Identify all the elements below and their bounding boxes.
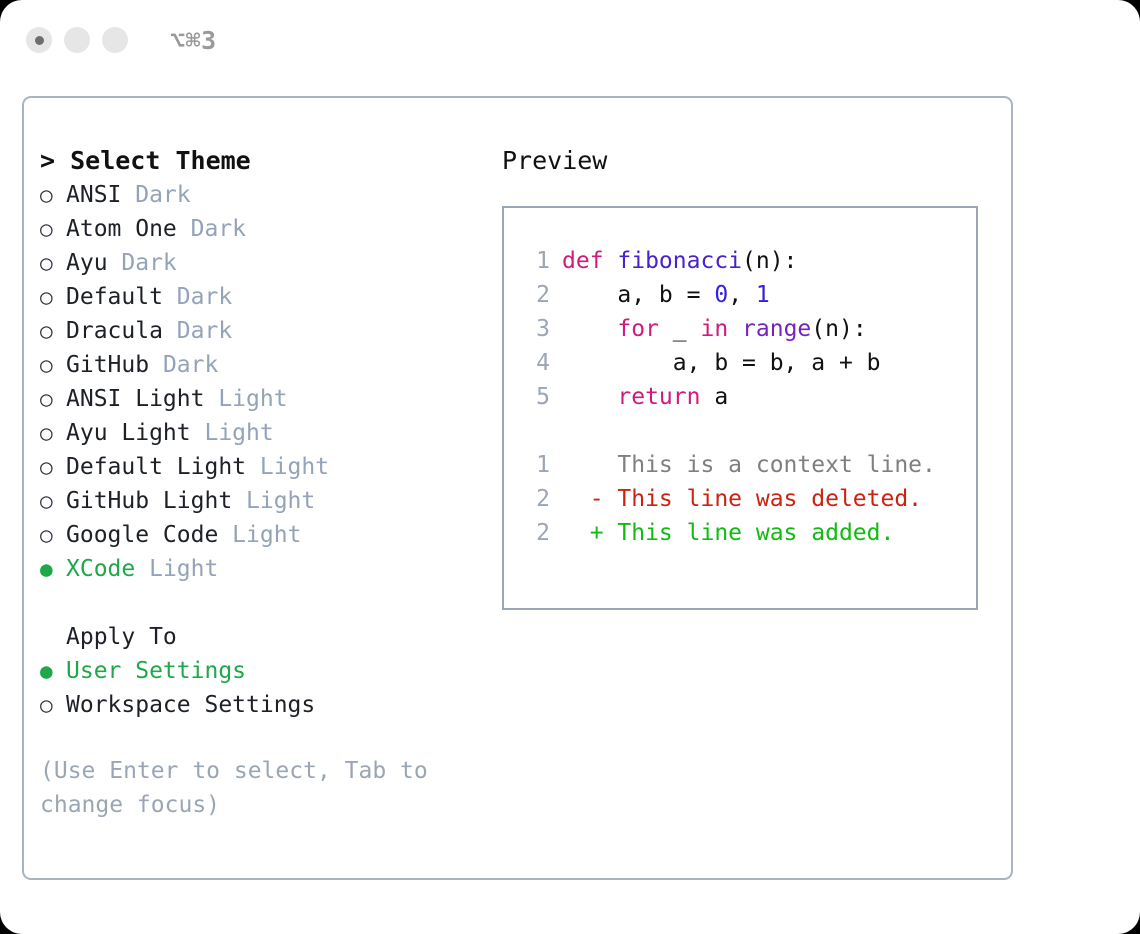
code-token-kw: in: [700, 316, 728, 342]
window-control-maximize[interactable]: [102, 27, 128, 53]
radio-unselected-icon: ○: [40, 212, 66, 246]
diff-sign: +: [562, 516, 604, 550]
code-line-content: a, b = b, a + b: [562, 346, 881, 380]
apply-to-option-name: User Settings: [66, 654, 246, 688]
code-line-number: 3: [522, 312, 550, 346]
window-titlebar: ⌥⌘3: [0, 0, 1140, 80]
radio-unselected-icon: ○: [40, 518, 66, 552]
diff-line: 2 - This line was deleted.: [522, 482, 976, 516]
code-token-kw: return: [617, 384, 700, 410]
theme-option-github[interactable]: ○GitHub Dark: [40, 348, 500, 382]
radio-selected-icon: ●: [40, 654, 66, 688]
radio-selected-icon: ●: [40, 552, 66, 586]
code-token-txt: a, b =: [562, 282, 714, 308]
theme-selector-panel: > Select Theme ○ANSI Dark○Atom One Dark○…: [22, 96, 1013, 880]
window-control-minimize[interactable]: [64, 27, 90, 53]
theme-option-default[interactable]: ○Default Dark: [40, 280, 500, 314]
theme-option-mode: Light: [191, 416, 274, 450]
radio-unselected-icon: ○: [40, 416, 66, 450]
diff-line: 1 This is a context line.: [522, 448, 976, 482]
code-token-num: 0: [714, 282, 728, 308]
code-token-call: range: [742, 316, 811, 342]
radio-unselected-icon: ○: [40, 382, 66, 416]
code-token-txt: [728, 316, 742, 342]
preview-box: 1def fibonacci(n):2 a, b = 0, 13 for _ i…: [502, 206, 978, 610]
apply-to-option-list[interactable]: ●User Settings○Workspace Settings: [40, 654, 500, 722]
theme-option-name: ANSI: [66, 178, 121, 212]
theme-option-name: Atom One: [66, 212, 177, 246]
code-token-txt: a: [700, 384, 728, 410]
terminal-window: ⌥⌘3 > Select Theme ○ANSI Dark○Atom One D…: [0, 0, 1140, 934]
window-control-close[interactable]: [26, 27, 52, 53]
theme-option-ayu[interactable]: ○Ayu Dark: [40, 246, 500, 280]
code-line-content: a, b = 0, 1: [562, 278, 770, 312]
theme-option-name: Google Code: [66, 518, 218, 552]
theme-option-xcode[interactable]: ●XCode Light: [40, 552, 500, 586]
theme-option-name: Ayu Light: [66, 416, 191, 450]
code-token-txt: [562, 316, 617, 342]
radio-unselected-icon: ○: [40, 484, 66, 518]
code-line-content: def fibonacci(n):: [562, 244, 797, 278]
code-line-number: 1: [522, 244, 550, 278]
keyboard-shortcut-label: ⌥⌘3: [170, 26, 217, 55]
code-line-number: 5: [522, 380, 550, 414]
theme-option-list[interactable]: ○ANSI Dark○Atom One Dark○Ayu Dark○Defaul…: [40, 178, 500, 586]
code-line-content: return a: [562, 380, 728, 414]
theme-option-google-code[interactable]: ○Google Code Light: [40, 518, 500, 552]
theme-option-name: Ayu: [66, 246, 108, 280]
diff-sign: -: [562, 482, 604, 516]
theme-option-atom-one[interactable]: ○Atom One Dark: [40, 212, 500, 246]
code-token-txt: _: [659, 316, 701, 342]
active-dot-indicator: [35, 36, 44, 45]
radio-unselected-icon: ○: [40, 688, 66, 722]
theme-option-mode: Light: [204, 382, 287, 416]
diff-line-number: 2: [522, 516, 550, 550]
diff-sample: 1 This is a context line.2 - This line w…: [522, 448, 976, 550]
theme-option-name: Dracula: [66, 314, 163, 348]
code-token-fn: fibonacci: [617, 248, 742, 274]
diff-line-number: 1: [522, 448, 550, 482]
diff-text: This is a context line.: [604, 448, 936, 482]
theme-option-mode: Dark: [121, 178, 190, 212]
keyboard-hint-text: (Use Enter to select, Tab to change focu…: [40, 754, 460, 822]
theme-option-mode: Light: [246, 450, 329, 484]
code-line: 2 a, b = 0, 1: [522, 278, 976, 312]
code-token-kw: for: [617, 316, 659, 342]
theme-option-ansi-light[interactable]: ○ANSI Light Light: [40, 382, 500, 416]
diff-line-number: 2: [522, 482, 550, 516]
code-line-content: for _ in range(n):: [562, 312, 867, 346]
theme-option-name: XCode: [66, 552, 135, 586]
theme-option-github-light[interactable]: ○GitHub Light Light: [40, 484, 500, 518]
theme-list-column: > Select Theme ○ANSI Dark○Atom One Dark○…: [40, 144, 500, 822]
radio-unselected-icon: ○: [40, 178, 66, 212]
code-token-txt: (n):: [742, 248, 797, 274]
theme-option-default-light[interactable]: ○Default Light Light: [40, 450, 500, 484]
radio-unselected-icon: ○: [40, 280, 66, 314]
code-token-txt: [562, 384, 617, 410]
diff-text: This line was deleted.: [604, 482, 923, 516]
diff-text: This line was added.: [604, 516, 895, 550]
theme-option-mode: Light: [135, 552, 218, 586]
apply-to-option-name: Workspace Settings: [66, 688, 315, 722]
theme-option-ayu-light[interactable]: ○Ayu Light Light: [40, 416, 500, 450]
theme-option-name: ANSI Light: [66, 382, 204, 416]
apply-to-option-workspace-settings[interactable]: ○Workspace Settings: [40, 688, 500, 722]
theme-option-dracula[interactable]: ○Dracula Dark: [40, 314, 500, 348]
code-sample: 1def fibonacci(n):2 a, b = 0, 13 for _ i…: [522, 244, 976, 414]
window-controls: [26, 27, 128, 53]
theme-option-mode: Dark: [177, 212, 246, 246]
code-line: 4 a, b = b, a + b: [522, 346, 976, 380]
radio-unselected-icon: ○: [40, 246, 66, 280]
theme-option-name: Default: [66, 280, 163, 314]
select-theme-header: > Select Theme: [40, 144, 500, 178]
theme-option-mode: Dark: [108, 246, 177, 280]
radio-unselected-icon: ○: [40, 314, 66, 348]
code-token-txt: (n):: [811, 316, 866, 342]
diff-sign: [562, 448, 604, 482]
theme-option-name: Default Light: [66, 450, 246, 484]
code-line: 1def fibonacci(n):: [522, 244, 976, 278]
apply-to-header: Apply To: [40, 620, 500, 654]
theme-option-name: GitHub: [66, 348, 149, 382]
theme-option-ansi[interactable]: ○ANSI Dark: [40, 178, 500, 212]
code-line: 3 for _ in range(n):: [522, 312, 976, 346]
theme-option-mode: Light: [218, 518, 301, 552]
theme-option-mode: Dark: [163, 314, 232, 348]
code-diff-separator: [522, 414, 976, 448]
apply-to-option-user-settings[interactable]: ●User Settings: [40, 654, 500, 688]
code-token-num: 1: [756, 282, 770, 308]
preview-column: Preview 1def fibonacci(n):2 a, b = 0, 13…: [502, 144, 992, 610]
code-token-kw: def: [562, 248, 617, 274]
code-line-number: 2: [522, 278, 550, 312]
preview-header: Preview: [502, 144, 992, 178]
diff-line: 2 + This line was added.: [522, 516, 976, 550]
theme-option-name: GitHub Light: [66, 484, 232, 518]
theme-option-mode: Dark: [163, 280, 232, 314]
code-line: 5 return a: [522, 380, 976, 414]
theme-option-mode: Light: [232, 484, 315, 518]
radio-unselected-icon: ○: [40, 348, 66, 382]
code-line-number: 4: [522, 346, 550, 380]
radio-unselected-icon: ○: [40, 450, 66, 484]
code-token-txt: a, b = b, a + b: [562, 350, 881, 376]
code-token-txt: ,: [728, 282, 756, 308]
theme-option-mode: Dark: [149, 348, 218, 382]
